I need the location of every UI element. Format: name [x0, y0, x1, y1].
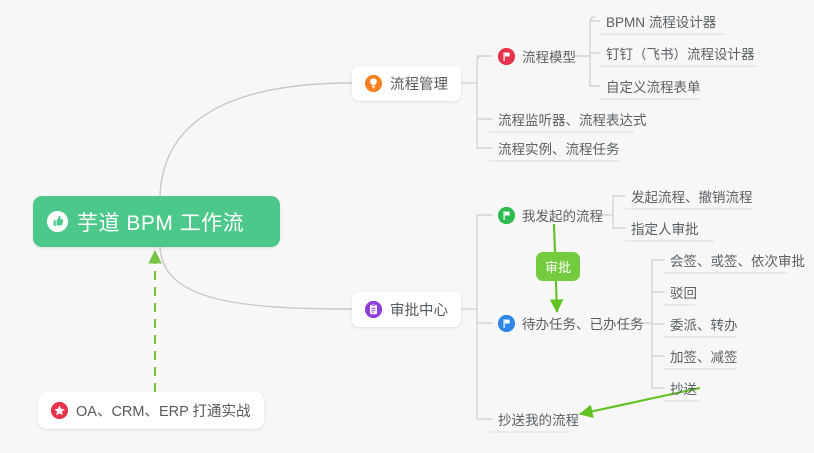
node-label: 抄送我的流程	[498, 409, 579, 429]
wire-model-spine	[590, 17, 595, 86]
branch-label: 审批中心	[390, 299, 448, 320]
node-label: 抄送	[670, 378, 697, 398]
node-label: 我发起的流程	[522, 205, 603, 225]
node-label: 自定义流程表单	[606, 76, 701, 96]
node-label: 委派、转办	[670, 314, 738, 334]
wire-root-to-process-management	[160, 83, 352, 196]
node-custom-form[interactable]: 自定义流程表单	[600, 72, 707, 100]
callout-label: OA、CRM、ERP 打通实战	[76, 400, 251, 421]
node-label: 发起流程、撤销流程	[631, 186, 753, 206]
flag-icon	[498, 207, 515, 224]
node-label: 流程实例、流程任务	[498, 138, 620, 158]
branch-process-management[interactable]: 流程管理	[352, 66, 461, 101]
node-countersign[interactable]: 会签、或签、依次审批	[664, 246, 811, 274]
node-delegate-transfer[interactable]: 委派、转办	[664, 310, 744, 338]
root-label: 芋道 BPM 工作流	[77, 207, 244, 237]
node-my-initiated[interactable]: 我发起的流程	[492, 201, 609, 229]
clipboard-icon	[365, 301, 382, 318]
node-process-model[interactable]: 流程模型	[492, 42, 582, 70]
node-label: 驳回	[670, 282, 697, 302]
node-label: 加签、减签	[670, 346, 738, 366]
star-icon	[51, 402, 68, 419]
flag-icon	[498, 315, 515, 332]
mindmap-canvas: 芋道 BPM 工作流 流程管理 审批中心	[0, 0, 814, 453]
node-label: BPMN 流程设计器	[606, 11, 716, 31]
thumbs-up-icon	[47, 211, 68, 232]
node-label: 流程模型	[522, 46, 576, 66]
root-node[interactable]: 芋道 BPM 工作流	[33, 196, 280, 247]
callout-integration-practice[interactable]: OA、CRM、ERP 打通实战	[38, 392, 264, 429]
flag-icon	[498, 48, 515, 65]
node-instance-task[interactable]: 流程实例、流程任务	[492, 134, 626, 162]
node-label: 指定人审批	[631, 218, 699, 238]
wire-root-to-approval-center	[160, 247, 352, 309]
node-start-cancel-process[interactable]: 发起流程、撤销流程	[625, 182, 759, 210]
node-dingtalk-designer[interactable]: 钉钉（飞书）流程设计器	[600, 39, 761, 67]
branch-label: 流程管理	[390, 73, 448, 94]
node-cc-to-me[interactable]: 抄送我的流程	[492, 405, 585, 433]
node-reject[interactable]: 驳回	[664, 278, 703, 306]
tag-approval[interactable]: 审批	[536, 252, 580, 281]
node-label: 流程监听器、流程表达式	[498, 109, 647, 129]
node-assignee-approval[interactable]: 指定人审批	[625, 214, 705, 242]
lightbulb-icon	[365, 75, 382, 92]
node-label: 会签、或签、依次审批	[670, 250, 805, 270]
node-listener-expression[interactable]: 流程监听器、流程表达式	[492, 105, 653, 133]
node-cc[interactable]: 抄送	[664, 374, 703, 402]
tag-label: 审批	[545, 257, 571, 276]
node-add-remove-sign[interactable]: 加签、减签	[664, 342, 744, 370]
branch-approval-center[interactable]: 审批中心	[352, 292, 461, 327]
node-bpmn-designer[interactable]: BPMN 流程设计器	[600, 7, 722, 35]
wire-pm-spine	[477, 56, 482, 148]
node-label: 钉钉（飞书）流程设计器	[606, 43, 755, 63]
node-label: 待办任务、已办任务	[522, 313, 644, 333]
node-todo-done-tasks[interactable]: 待办任务、已办任务	[492, 309, 650, 337]
